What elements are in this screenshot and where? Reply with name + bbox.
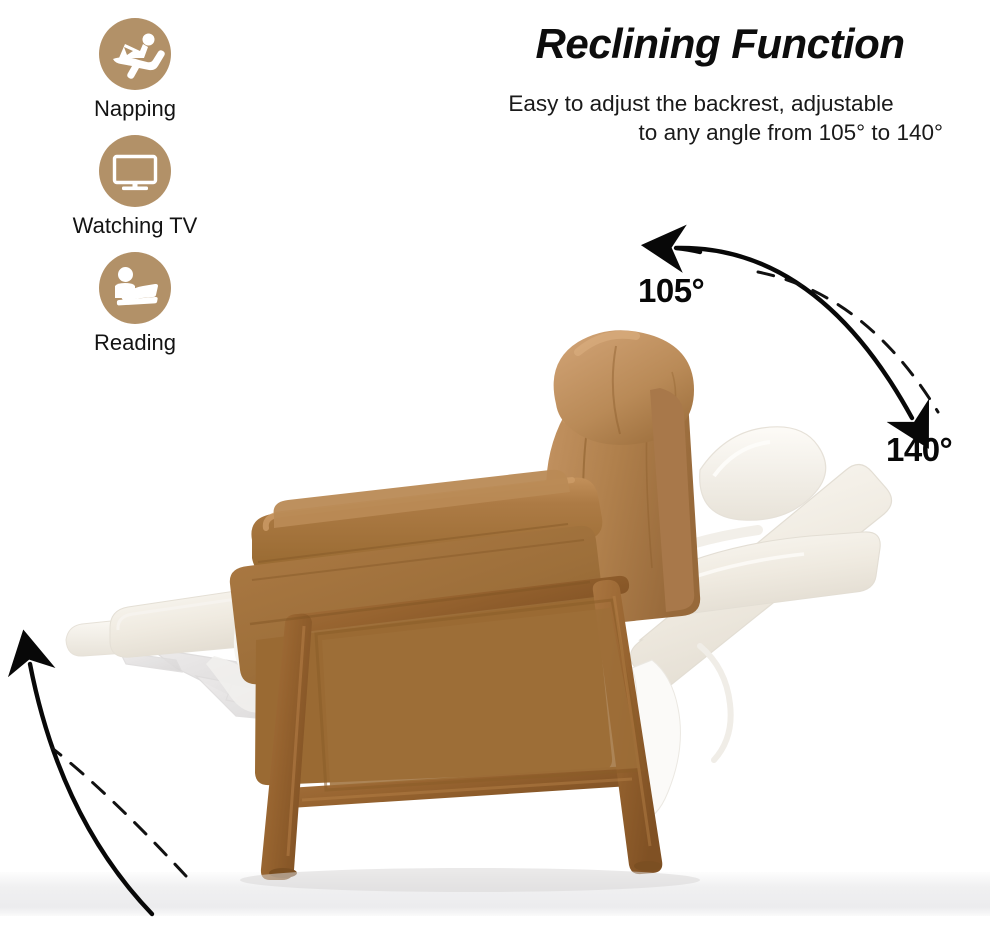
angle-label-140: 140° xyxy=(886,431,952,469)
angle-label-105: 105° xyxy=(638,272,704,310)
leather-recliner-chair xyxy=(230,330,700,892)
backrest-dashed-arc xyxy=(758,272,938,412)
footrest-dashed-arc xyxy=(52,748,186,876)
backrest-arrow-to-140 xyxy=(678,248,912,418)
product-illustration xyxy=(0,0,990,934)
infographic-canvas: Napping Watching TV xyxy=(0,0,990,934)
footrest-arrow xyxy=(30,664,152,914)
